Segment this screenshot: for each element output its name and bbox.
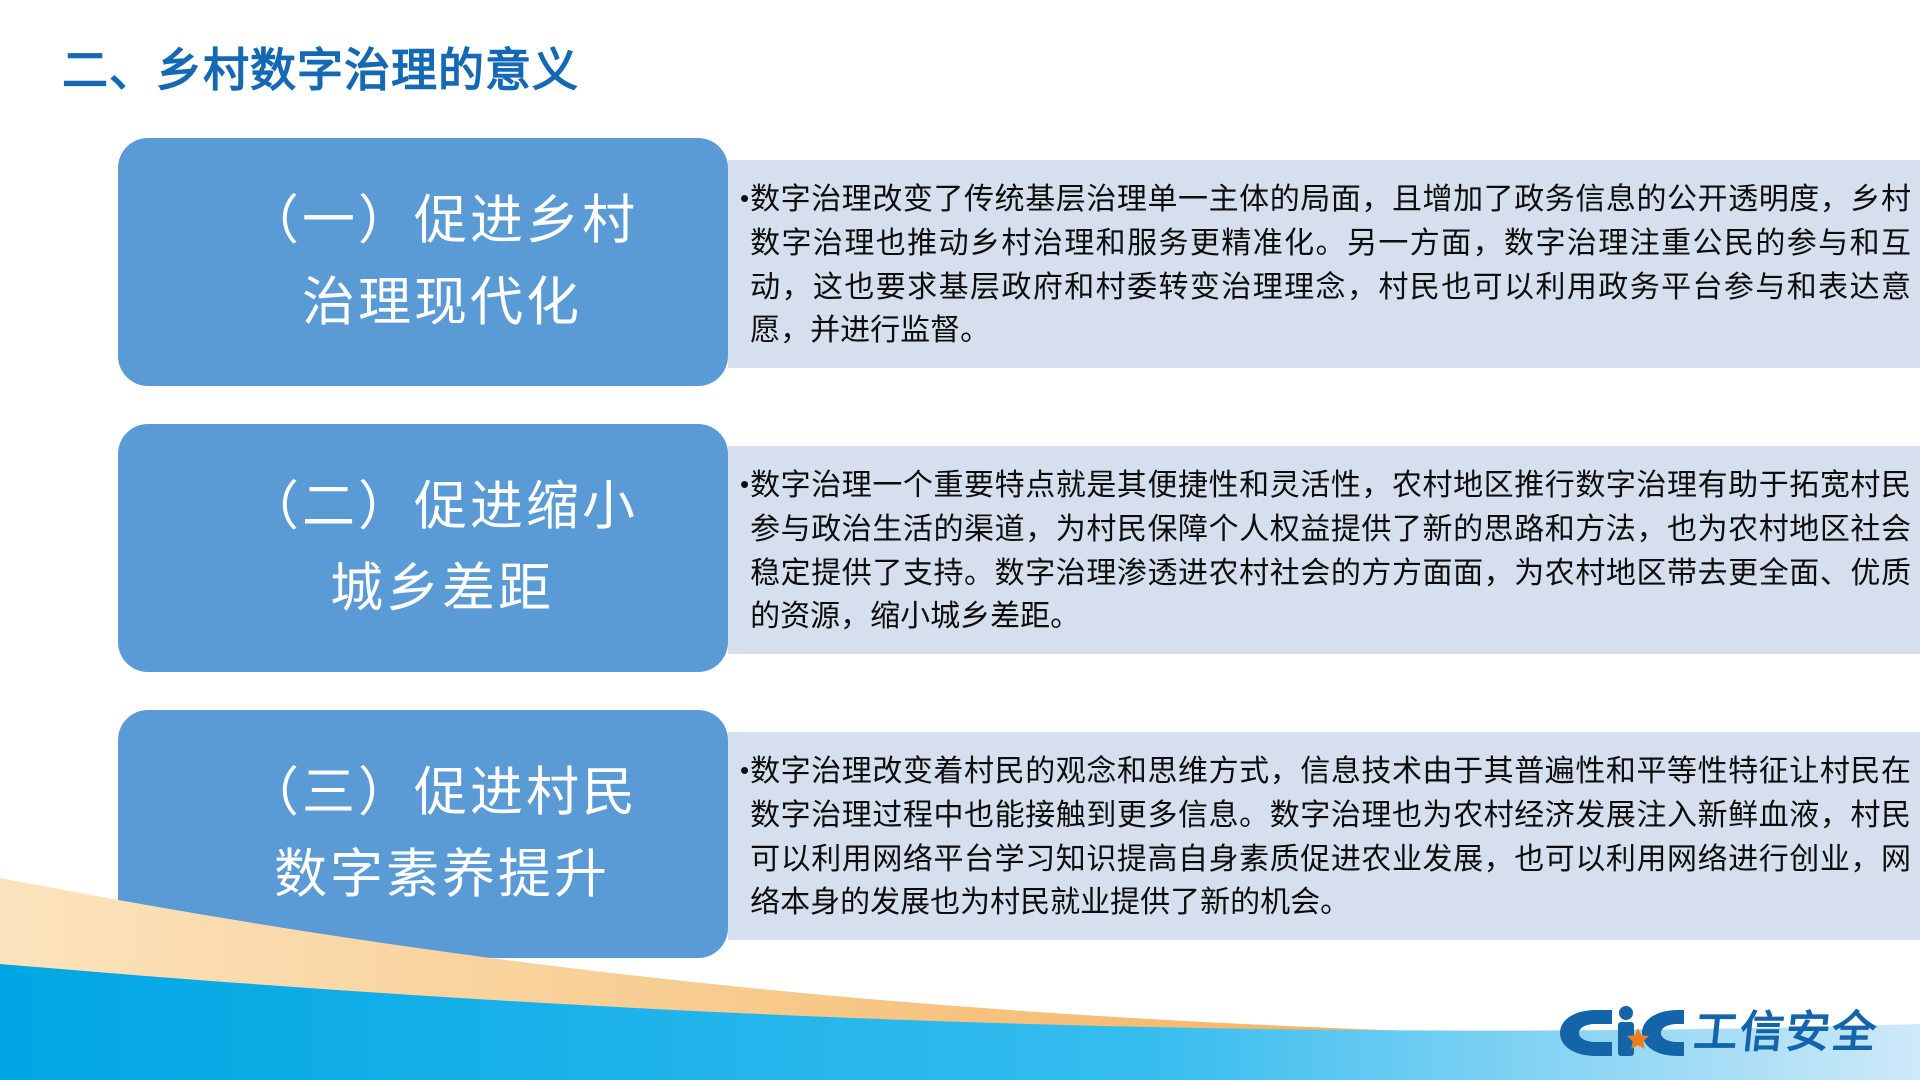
content-row: （二）促进缩小 城乡差距 • 数字治理一个重要特点就是其便捷性和灵活性，农村地区…: [118, 424, 1816, 672]
logo-name-text: 工信安全: [1692, 1011, 1881, 1055]
page-title: 二、乡村数字治理的意义: [62, 44, 579, 97]
section-heading-text-1: （一）促进乡村 治理现代化: [186, 180, 660, 344]
section-heading-text-2: （二）促进缩小 城乡差距: [186, 466, 660, 630]
section-body-text-2: 数字治理一个重要特点就是其便捷性和灵活性，农村地区推行数字治理有助于拓宽村民参与…: [750, 464, 1911, 639]
bullet-icon: •: [740, 465, 749, 503]
bullet-icon: •: [740, 751, 749, 789]
section-body-panel-2: • 数字治理一个重要特点就是其便捷性和灵活性，农村地区推行数字治理有助于拓宽村民…: [728, 446, 1920, 654]
content-row: （一）促进乡村 治理现代化 • 数字治理改变了传统基层治理单一主体的局面，且增加…: [118, 138, 1816, 386]
section-heading-card-1[interactable]: （一）促进乡村 治理现代化: [118, 138, 728, 386]
brand-logo: 工信安全: [1552, 1000, 1878, 1066]
bullet-icon: •: [740, 179, 749, 217]
section-body-panel-1: • 数字治理改变了传统基层治理单一主体的局面，且增加了政务信息的公开透明度，乡村…: [728, 160, 1920, 368]
section-heading-card-2[interactable]: （二）促进缩小 城乡差距: [118, 424, 728, 672]
slide-canvas: 二、乡村数字治理的意义 （一）促进乡村 治理现代化 • 数字治理改变了传统基层治…: [0, 0, 1920, 1080]
section-body-panel-3: • 数字治理改变着村民的观念和思维方式，信息技术由于其普遍性和平等性特征让村民在…: [728, 732, 1920, 940]
cic-logo-icon: [1552, 1004, 1684, 1062]
content-row: （三）促进村民 数字素养提升 • 数字治理改变着村民的观念和思维方式，信息技术由…: [118, 710, 1816, 958]
section-body-text-1: 数字治理改变了传统基层治理单一主体的局面，且增加了政务信息的公开透明度，乡村数字…: [750, 178, 1911, 353]
section-heading-card-3[interactable]: （三）促进村民 数字素养提升: [118, 710, 728, 958]
section-body-text-3: 数字治理改变着村民的观念和思维方式，信息技术由于其普遍性和平等性特征让村民在数字…: [750, 750, 1911, 925]
section-heading-text-3: （三）促进村民 数字素养提升: [186, 752, 660, 916]
